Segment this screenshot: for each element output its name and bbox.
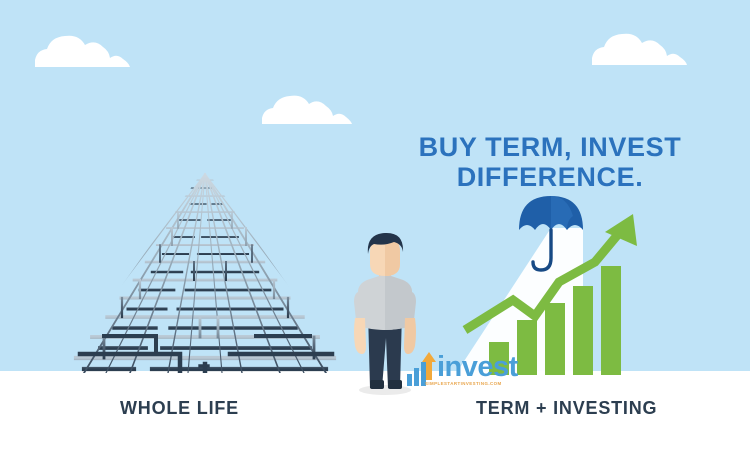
- bar-5: [601, 266, 621, 375]
- headline: BUY TERM, INVEST DIFFERENCE.: [400, 132, 700, 192]
- cloud-top-left: [35, 33, 139, 69]
- cloud-top-right: [592, 31, 696, 67]
- headline-line-1: BUY TERM, INVEST: [400, 132, 700, 162]
- label-whole-life: WHOLE LIFE: [120, 398, 239, 419]
- cloud-mid-left: [262, 92, 362, 126]
- illustration-canvas: BUY TERM, INVEST DIFFERENCE. invest SIMP…: [0, 0, 750, 460]
- bar-3: [545, 303, 565, 375]
- arm-left: [354, 318, 366, 354]
- headline-line-2: DIFFERENCE.: [400, 162, 700, 192]
- bar-4: [573, 286, 593, 375]
- maze-graphic: [60, 168, 350, 373]
- label-term-investing: TERM + INVESTING: [476, 398, 657, 419]
- logo-tagline: SIMPLESTARTINVESTING.COM: [425, 381, 502, 386]
- invest-logo: invest SIMPLESTARTINVESTING.COM: [405, 348, 515, 392]
- person-shadow: [359, 385, 411, 395]
- logo-wordmark: invest: [437, 353, 518, 382]
- bar-2: [517, 320, 537, 375]
